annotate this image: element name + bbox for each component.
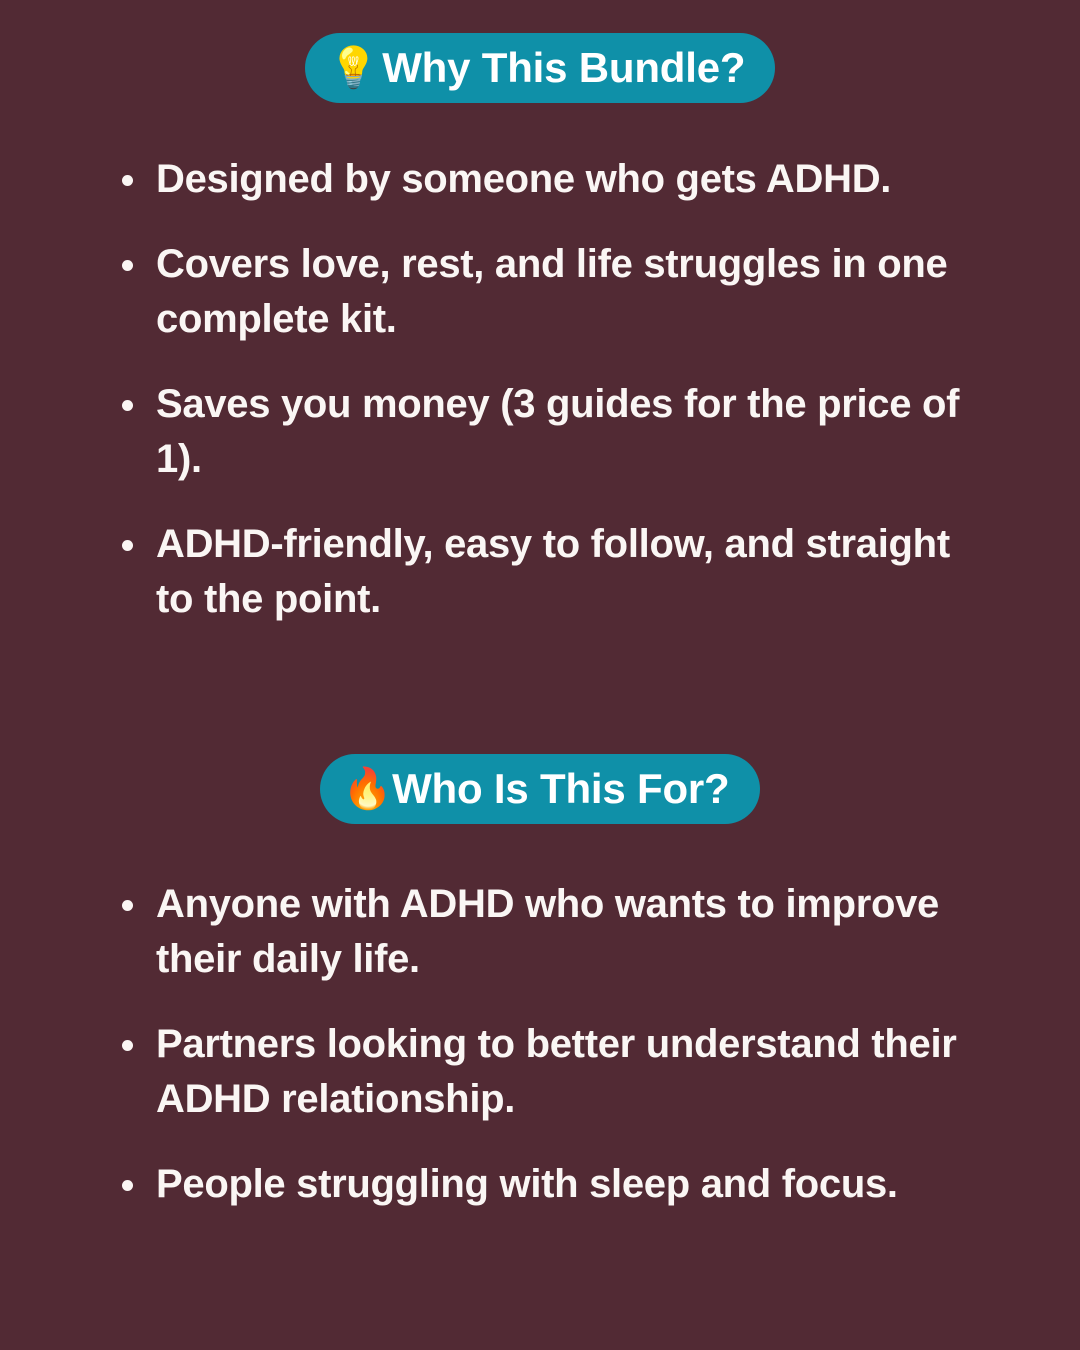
list-item: Partners looking to better understand th…: [110, 1017, 990, 1127]
heading-pill-who-is-this-for: 🔥 Who Is This For?: [320, 754, 759, 824]
list-item: People struggling with sleep and focus.: [110, 1157, 990, 1212]
heading-why-this-bundle-label: Why This Bundle?: [382, 47, 745, 89]
list-item: ADHD-friendly, easy to follow, and strai…: [110, 517, 990, 627]
list-item: Anyone with ADHD who wants to improve th…: [110, 877, 990, 987]
list-item-label: Designed by someone who gets ADHD.: [156, 152, 990, 207]
list-item: Saves you money (3 guides for the price …: [110, 377, 990, 487]
bullet-dot-icon: [122, 175, 133, 186]
bullet-dot-icon: [122, 1040, 133, 1051]
light-bulb-icon: 💡: [329, 48, 379, 88]
bullet-dot-icon: [122, 400, 133, 411]
heading-why-this-bundle-row: 💡 Why This Bundle?: [0, 33, 1080, 103]
why-this-bundle-bullet-list: Designed by someone who gets ADHD. Cover…: [110, 152, 990, 627]
fire-icon: 🔥: [342, 769, 392, 809]
heading-who-is-this-for-label: Who Is This For?: [392, 768, 729, 810]
slide-canvas: 💡 Why This Bundle? Designed by someone w…: [0, 0, 1080, 1350]
list-item-label: Anyone with ADHD who wants to improve th…: [156, 877, 990, 987]
list-item-label: Saves you money (3 guides for the price …: [156, 377, 990, 487]
list-item-label: People struggling with sleep and focus.: [156, 1157, 990, 1212]
list-item-label: Covers love, rest, and life struggles in…: [156, 237, 990, 347]
list-item: Covers love, rest, and life struggles in…: [110, 237, 990, 347]
heading-pill-why-this-bundle: 💡 Why This Bundle?: [305, 33, 776, 103]
list-item: Designed by someone who gets ADHD.: [110, 152, 990, 207]
list-item-label: ADHD-friendly, easy to follow, and strai…: [156, 517, 990, 627]
list-item-label: Partners looking to better understand th…: [156, 1017, 990, 1127]
bullet-dot-icon: [122, 540, 133, 551]
who-is-this-for-bullet-list: Anyone with ADHD who wants to improve th…: [110, 877, 990, 1212]
bullet-dot-icon: [122, 900, 133, 911]
bullet-dot-icon: [122, 260, 133, 271]
bullet-dot-icon: [122, 1180, 133, 1191]
heading-who-is-this-for-row: 🔥 Who Is This For?: [0, 754, 1080, 824]
